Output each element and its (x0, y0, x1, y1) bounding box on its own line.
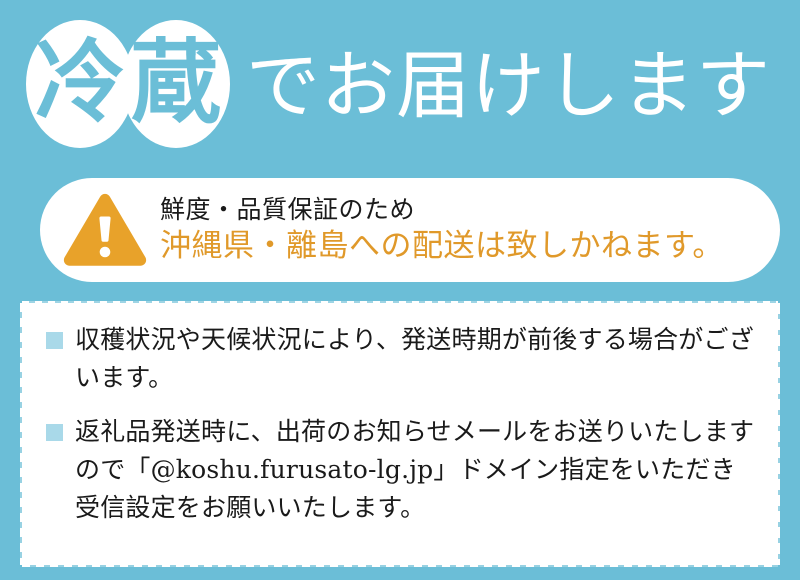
kanji-badge-rei-glyph: 冷 (35, 37, 125, 127)
refrigerated-badge-group: 冷 蔵 (26, 20, 230, 148)
warning-restriction-text: 沖縄県・離島への配送は致しかねます。 (160, 228, 724, 265)
paper-edge-top (22, 301, 778, 304)
square-bullet-icon (46, 424, 63, 441)
paper-edge-left (20, 303, 23, 565)
paper-edge-right (777, 303, 780, 565)
warning-panel: 鮮度・品質保証のため 沖縄県・離島への配送は致しかねます。 (40, 178, 780, 282)
warning-text-block: 鮮度・品質保証のため 沖縄県・離島への配送は致しかねます。 (160, 195, 724, 264)
notes-panel: 収穫状況や天候状況により、発送時期が前後する場合がございます。 返礼品発送時に、… (22, 303, 778, 565)
kanji-badge-zou-glyph: 蔵 (131, 37, 221, 127)
paper-edge-bottom (22, 564, 778, 567)
kanji-badge-rei: 冷 (26, 20, 134, 148)
header-tail-text: でお届けします (246, 49, 771, 123)
note-text: 収穫状況や天候状況により、発送時期が前後する場合がございます。 (75, 321, 758, 397)
warning-reason-text: 鮮度・品質保証のため (160, 195, 724, 225)
note-text: 返礼品発送時に、出荷のお知らせメールをお送りいたしますので「@koshu.fur… (75, 413, 758, 527)
banner-header: 冷 蔵 でお届けします (0, 0, 800, 168)
warning-triangle-icon (62, 191, 148, 269)
square-bullet-icon (46, 332, 63, 349)
kanji-badge-zou: 蔵 (122, 20, 230, 148)
list-item: 返礼品発送時に、出荷のお知らせメールをお送りいたしますので「@koshu.fur… (46, 413, 758, 527)
shipping-notice-banner: 冷 蔵 でお届けします 鮮度・品質保証のため 沖縄県・離島への配送は致しかねます… (0, 0, 800, 580)
list-item: 収穫状況や天候状況により、発送時期が前後する場合がございます。 (46, 321, 758, 397)
